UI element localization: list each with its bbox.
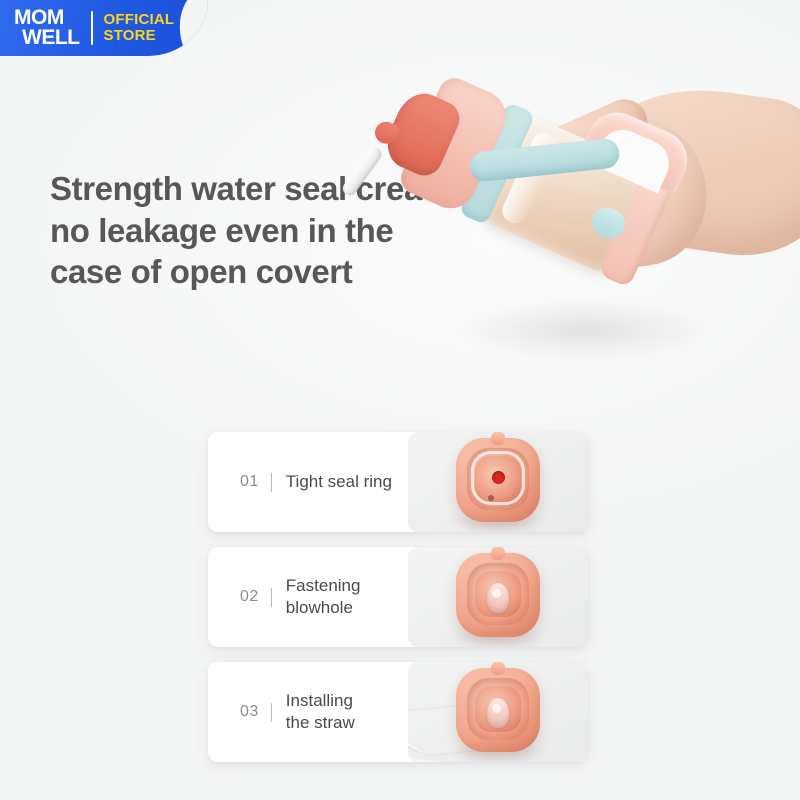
feature-separator — [271, 473, 272, 492]
feature-card-02[interactable]: 02 Fastening blowhole — [208, 547, 588, 647]
lid-nub — [491, 432, 505, 445]
feature-photo-straw — [408, 662, 588, 762]
feature-card-03[interactable]: 03 Installing the straw — [208, 662, 588, 762]
feature-label-line2: the straw — [286, 713, 355, 732]
hero-product-photo — [430, 84, 800, 414]
lid-nub — [491, 662, 505, 675]
feature-number: 02 — [240, 588, 259, 606]
seal-center-hole — [492, 471, 505, 484]
blowhole-valve — [487, 698, 509, 728]
feature-separator — [271, 703, 272, 722]
feature-label: Fastening blowhole — [286, 575, 361, 619]
feature-label: Installing the straw — [286, 690, 355, 734]
feature-label-line1: Fastening — [286, 576, 361, 595]
feature-card-03-text: 03 Installing the straw — [208, 662, 408, 762]
feature-photo-blowhole — [408, 547, 588, 647]
feature-card-01[interactable]: 01 Tight seal ring — [208, 432, 588, 532]
feature-label-line1: Installing — [286, 691, 353, 710]
bottle-lid — [456, 553, 540, 637]
page-background: MOM WELL OFFICIAL STORE Strength water s… — [0, 0, 800, 800]
feature-label: Tight seal ring — [286, 471, 392, 493]
official-store-badge: OFFICIAL STORE — [103, 12, 174, 43]
seal-vent-dot — [488, 495, 494, 501]
brand-banner: MOM WELL OFFICIAL STORE — [0, 0, 208, 56]
feature-label-line2: blowhole — [286, 598, 353, 617]
lid-nub — [491, 547, 505, 560]
feature-card-02-text: 02 Fastening blowhole — [208, 547, 408, 647]
feature-separator — [271, 588, 272, 607]
feature-card-01-text: 01 Tight seal ring — [208, 432, 408, 532]
feature-card-list: 01 Tight seal ring 02 — [208, 432, 588, 777]
bottle-lid — [456, 438, 540, 522]
brand-logo-line2: WELL — [22, 28, 79, 48]
blowhole-valve — [487, 583, 509, 613]
feature-number: 01 — [240, 473, 259, 491]
brand-logo: MOM WELL — [14, 8, 79, 47]
brand-divider — [91, 11, 93, 45]
badge-line2: STORE — [103, 28, 174, 44]
badge-line1: OFFICIAL — [103, 12, 174, 28]
feature-number: 03 — [240, 703, 259, 721]
hero-shadow — [460, 300, 710, 360]
feature-photo-seal-ring — [408, 432, 588, 532]
